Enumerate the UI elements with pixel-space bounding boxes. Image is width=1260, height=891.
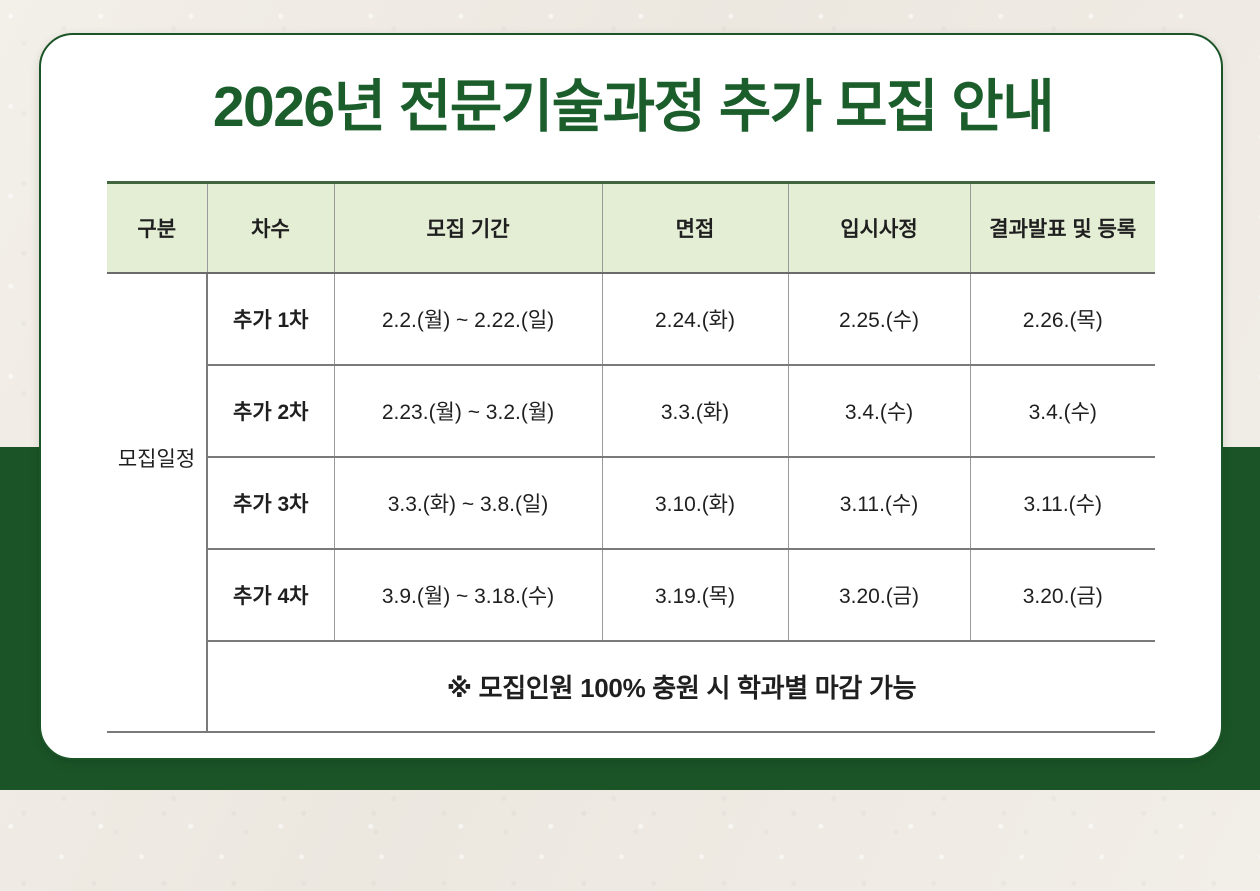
table-header: 구분 차수 모집 기간 면접 입시사정 결과발표 및 등록 [107,183,1155,274]
row-group-label-schedule: 모집일정 [107,273,207,641]
column-header-period: 모집 기간 [334,183,602,274]
period-3: 3.3.(화) ~ 3.8.(일) [334,457,602,549]
capacity-note: ※ 모집인원 100% 충원 시 학과별 마감 가능 [207,641,1155,732]
table-row: 추가 3차 3.3.(화) ~ 3.8.(일) 3.10.(화) 3.11.(수… [107,457,1155,549]
table-row: 추가 4차 3.9.(월) ~ 3.18.(수) 3.19.(목) 3.20.(… [107,549,1155,641]
page-title: 2026년 전문기술과정 추가 모집 안내 [41,79,1225,136]
period-2: 2.23.(월) ~ 3.2.(월) [334,365,602,457]
round-label-4: 추가 4차 [207,549,334,641]
column-header-admission: 입시사정 [788,183,970,274]
admission-1: 2.25.(수) [788,273,970,365]
table-row: 모집일정 추가 1차 2.2.(월) ~ 2.22.(일) 2.24.(화) 2… [107,273,1155,365]
interview-4: 3.19.(목) [602,549,788,641]
admission-3: 3.11.(수) [788,457,970,549]
result-3: 3.11.(수) [970,457,1155,549]
column-header-gubun: 구분 [107,183,207,274]
round-label-1: 추가 1차 [207,273,334,365]
period-4: 3.9.(월) ~ 3.18.(수) [334,549,602,641]
table-row: 추가 2차 2.23.(월) ~ 3.2.(월) 3.3.(화) 3.4.(수)… [107,365,1155,457]
poster-canvas: 2026년 전문기술과정 추가 모집 안내 구분 차수 모집 기간 면접 입시사… [0,0,1260,891]
interview-3: 3.10.(화) [602,457,788,549]
result-1: 2.26.(목) [970,273,1155,365]
column-header-interview: 면접 [602,183,788,274]
round-label-2: 추가 2차 [207,365,334,457]
result-4: 3.20.(금) [970,549,1155,641]
admission-2: 3.4.(수) [788,365,970,457]
column-header-chasu: 차수 [207,183,334,274]
admission-4: 3.20.(금) [788,549,970,641]
interview-1: 2.24.(화) [602,273,788,365]
table-note-row: ※ 모집인원 100% 충원 시 학과별 마감 가능 [107,641,1155,732]
table-header-row: 구분 차수 모집 기간 면접 입시사정 결과발표 및 등록 [107,183,1155,274]
interview-2: 3.3.(화) [602,365,788,457]
recruitment-schedule-table: 구분 차수 모집 기간 면접 입시사정 결과발표 및 등록 모집일정 추가 1차… [107,181,1155,733]
round-label-3: 추가 3차 [207,457,334,549]
column-header-result: 결과발표 및 등록 [970,183,1155,274]
announcement-card: 2026년 전문기술과정 추가 모집 안내 구분 차수 모집 기간 면접 입시사… [39,33,1223,760]
note-row-spacer [107,641,207,732]
period-1: 2.2.(월) ~ 2.22.(일) [334,273,602,365]
table-body: 모집일정 추가 1차 2.2.(월) ~ 2.22.(일) 2.24.(화) 2… [107,273,1155,732]
result-2: 3.4.(수) [970,365,1155,457]
